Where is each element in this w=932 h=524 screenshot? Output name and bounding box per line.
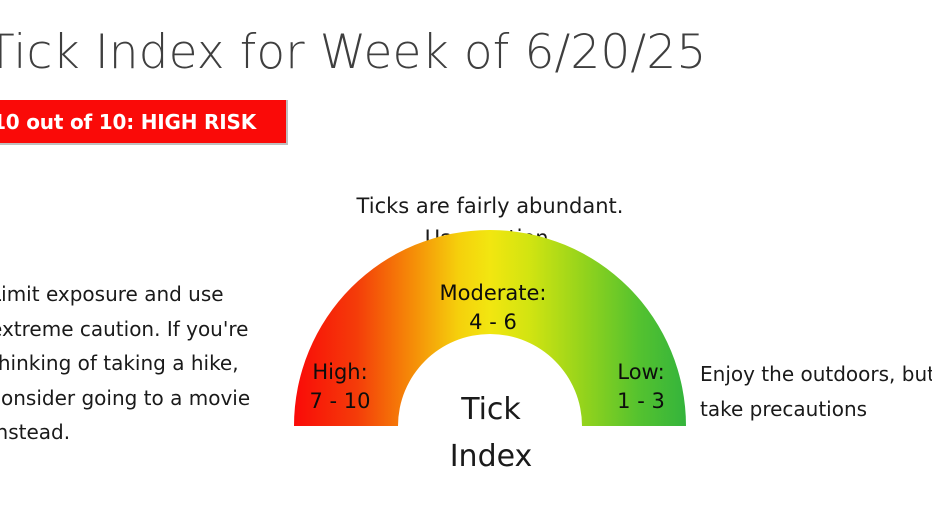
risk-status-badge-label: 10 out of 10: HIGH RISK — [0, 100, 266, 143]
gauge-center-label-line-2: Index — [398, 433, 584, 480]
advice-text-right: Enjoy the outdoors, but take precautions — [700, 357, 932, 426]
gauge-segment-high-range: 7 - 10 — [296, 387, 384, 416]
gauge-segment-high-label: High: — [296, 358, 384, 387]
gauge-segment-moderate: Moderate: 4 - 6 — [418, 279, 568, 337]
gauge-center-label-line-1: Tick — [398, 386, 584, 433]
gauge-segment-low-label: Low: — [598, 358, 684, 387]
gauge-segment-moderate-label: Moderate: — [418, 279, 568, 308]
gauge-caption-line-1: Ticks are fairly abundant. — [290, 190, 690, 222]
advice-text-left: Limit exposure and use extreme caution. … — [0, 277, 295, 450]
gauge-segment-moderate-range: 4 - 6 — [418, 308, 568, 337]
gauge-segment-high: High: 7 - 10 — [296, 358, 384, 416]
gauge-center-label: Tick Index — [398, 386, 584, 480]
page-title: Tick Index for Week of 6/20/25 — [0, 24, 932, 82]
gauge-segment-low-range: 1 - 3 — [598, 387, 684, 416]
gauge-segment-low: Low: 1 - 3 — [598, 358, 684, 416]
tick-index-infographic: Tick Index for Week of 6/20/25 10 out of… — [0, 0, 932, 524]
risk-status-badge: 10 out of 10: HIGH RISK — [0, 100, 288, 145]
